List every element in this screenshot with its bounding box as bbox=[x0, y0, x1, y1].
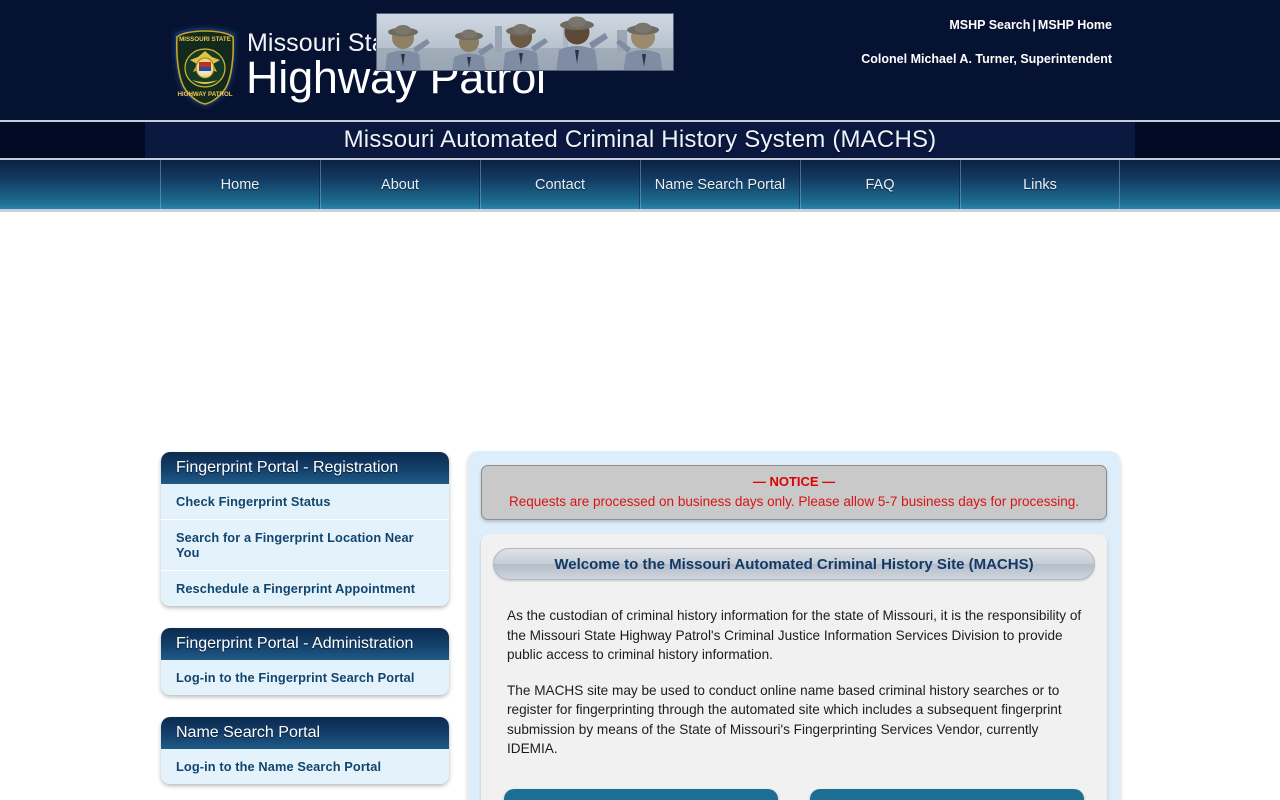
panel-title-name-search-portal: Name Search Portal bbox=[161, 717, 449, 749]
nav-items: Home About Contact Name Search Portal FA… bbox=[160, 160, 1120, 209]
sidebar-link-check-fingerprint-status[interactable]: Check Fingerprint Status bbox=[161, 484, 449, 520]
system-title-banner: Missouri Automated Criminal History Syst… bbox=[0, 120, 1280, 160]
nav-item-links[interactable]: Links bbox=[960, 160, 1120, 209]
header-quick-links: MSHP Search|MSHP Home bbox=[949, 16, 1112, 34]
nav-item-about[interactable]: About bbox=[320, 160, 480, 209]
notice-title: — NOTICE — bbox=[492, 474, 1096, 489]
nav-item-home[interactable]: Home bbox=[160, 160, 320, 209]
intro-paragraph-2: The MACHS site may be used to conduct on… bbox=[493, 681, 1095, 759]
sidebar: Fingerprint Portal - Registration Check … bbox=[161, 452, 449, 800]
panel-name-search-portal: Name Search Portal Log-in to the Name Se… bbox=[161, 717, 449, 784]
main-content: — NOTICE — Requests are processed on bus… bbox=[468, 451, 1120, 800]
cta-row: Click here to Register with the Fingerpr… bbox=[493, 789, 1095, 800]
nav-item-name-search-portal[interactable]: Name Search Portal bbox=[640, 160, 800, 209]
register-name-search-portal-button[interactable]: Click here to Register with the Name Sea… bbox=[810, 789, 1084, 800]
header-inner: MISSOURI STATE HIGHWAY PATROL Missouri S… bbox=[0, 0, 1280, 120]
panel-title-fingerprint-registration: Fingerprint Portal - Registration bbox=[161, 452, 449, 484]
sidebar-link-search-fingerprint-location[interactable]: Search for a Fingerprint Location Near Y… bbox=[161, 520, 449, 571]
main-navigation: Home About Contact Name Search Portal FA… bbox=[0, 160, 1280, 212]
panel-body-name-search-portal: Log-in to the Name Search Portal bbox=[161, 749, 449, 784]
sidebar-link-reschedule-appointment[interactable]: Reschedule a Fingerprint Appointment bbox=[161, 571, 449, 606]
sidebar-link-login-name-search-portal[interactable]: Log-in to the Name Search Portal bbox=[161, 749, 449, 784]
site-header: MISSOURI STATE HIGHWAY PATROL Missouri S… bbox=[0, 0, 1280, 120]
link-separator: | bbox=[1030, 18, 1038, 32]
saluting-troopers-photo bbox=[376, 13, 674, 71]
svg-text:HIGHWAY PATROL: HIGHWAY PATROL bbox=[177, 91, 232, 98]
notice-text: Requests are processed on business days … bbox=[492, 493, 1096, 510]
register-fingerprint-portal-button[interactable]: Click here to Register with the Fingerpr… bbox=[504, 789, 778, 800]
superintendent-text: Colonel Michael A. Turner, Superintenden… bbox=[861, 52, 1112, 66]
mshp-home-link[interactable]: MSHP Home bbox=[1038, 18, 1112, 32]
panel-body-fingerprint-administration: Log-in to the Fingerprint Search Portal bbox=[161, 660, 449, 695]
panel-fingerprint-registration: Fingerprint Portal - Registration Check … bbox=[161, 452, 449, 606]
mshp-shield-badge-icon: MISSOURI STATE HIGHWAY PATROL bbox=[168, 24, 242, 110]
svg-text:MISSOURI STATE: MISSOURI STATE bbox=[179, 36, 231, 43]
page-body: Fingerprint Portal - Registration Check … bbox=[0, 212, 1280, 795]
welcome-card: Welcome to the Missouri Automated Crimin… bbox=[481, 534, 1107, 800]
panel-body-fingerprint-registration: Check Fingerprint Status Search for a Fi… bbox=[161, 484, 449, 606]
page-title: Missouri Automated Criminal History Syst… bbox=[0, 126, 1280, 154]
notice-box: — NOTICE — Requests are processed on bus… bbox=[481, 465, 1107, 520]
nav-item-faq[interactable]: FAQ bbox=[800, 160, 960, 209]
panel-title-fingerprint-administration: Fingerprint Portal - Administration bbox=[161, 628, 449, 660]
welcome-title: Welcome to the Missouri Automated Crimin… bbox=[493, 548, 1095, 580]
sidebar-link-login-fingerprint-search-portal[interactable]: Log-in to the Fingerprint Search Portal bbox=[161, 660, 449, 695]
mshp-search-link[interactable]: MSHP Search bbox=[949, 18, 1030, 32]
panel-fingerprint-administration: Fingerprint Portal - Administration Log-… bbox=[161, 628, 449, 695]
intro-paragraph-1: As the custodian of criminal history inf… bbox=[493, 606, 1095, 665]
nav-item-contact[interactable]: Contact bbox=[480, 160, 640, 209]
